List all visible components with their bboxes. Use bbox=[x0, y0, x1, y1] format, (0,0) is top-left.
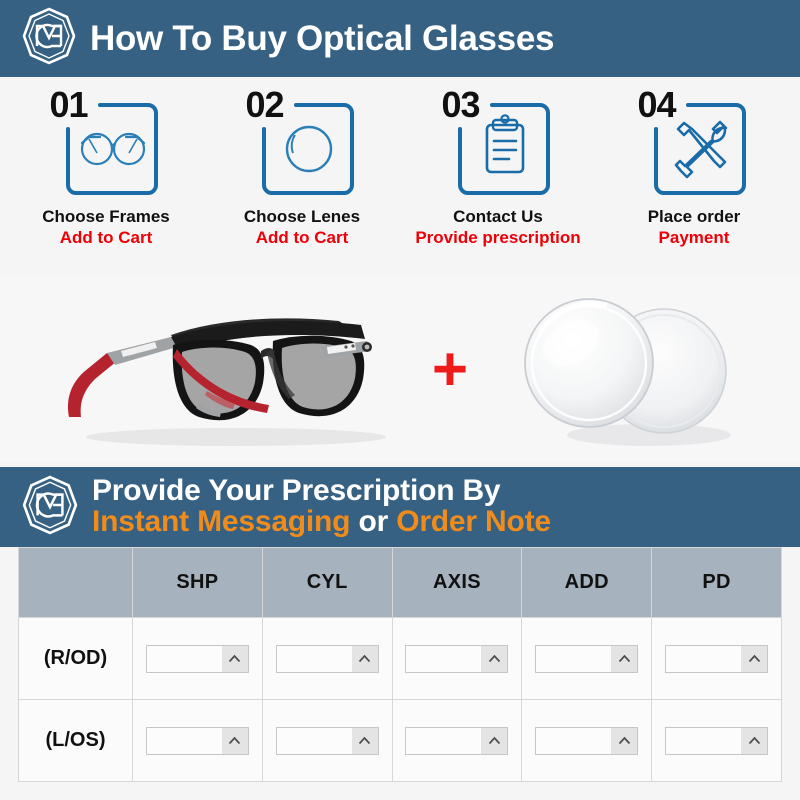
input-left-shp[interactable] bbox=[147, 728, 222, 754]
eyeglasses-photo bbox=[21, 285, 421, 455]
chevron-up-icon[interactable] bbox=[352, 728, 378, 754]
prescription-table: SHP CYL AXIS ADD PD (R/OD) bbox=[18, 547, 782, 782]
input-left-add[interactable] bbox=[536, 728, 611, 754]
prescription-table-wrap: SHP CYL AXIS ADD PD (R/OD) bbox=[0, 547, 800, 782]
cell-right-axis bbox=[392, 618, 522, 700]
table-corner-cell bbox=[19, 548, 133, 618]
cell-right-pd bbox=[652, 618, 782, 700]
step-item-02: 02 Choose Lenes Add to Cart bbox=[204, 87, 400, 277]
input-right-cyl[interactable] bbox=[277, 646, 352, 672]
table-header-row: SHP CYL AXIS ADD PD bbox=[19, 548, 782, 618]
step-caption-03: Contact Us Provide prescription bbox=[415, 207, 580, 248]
column-header-shp: SHP bbox=[133, 548, 263, 618]
chevron-up-icon[interactable] bbox=[611, 646, 637, 672]
input-right-shp[interactable] bbox=[147, 646, 222, 672]
table-row: (R/OD) bbox=[19, 618, 782, 700]
chevron-up-icon[interactable] bbox=[222, 728, 248, 754]
prescription-banner: Provide Your Prescription By Instant Mes… bbox=[0, 467, 800, 547]
step-action: Provide prescription bbox=[415, 228, 580, 249]
prescription-line-1: Provide Your Prescription By bbox=[92, 476, 551, 507]
input-right-add[interactable] bbox=[536, 646, 611, 672]
step-item-01: 01 Choose Frames Add to Cart bbox=[8, 87, 204, 277]
column-header-pd: PD bbox=[652, 548, 782, 618]
input-left-cyl[interactable] bbox=[277, 728, 352, 754]
chevron-up-icon[interactable] bbox=[481, 728, 507, 754]
step-box-04: 04 bbox=[632, 87, 757, 199]
spinner-left-axis[interactable] bbox=[405, 727, 508, 755]
step-caption-01: Choose Frames Add to Cart bbox=[42, 207, 170, 248]
step-action: Payment bbox=[648, 228, 741, 249]
step-box-03: 03 bbox=[436, 87, 561, 199]
spinner-right-cyl[interactable] bbox=[276, 645, 379, 673]
spinner-left-add[interactable] bbox=[535, 727, 638, 755]
spinner-right-shp[interactable] bbox=[146, 645, 249, 673]
me-octagon-logo-icon bbox=[22, 7, 76, 70]
spinner-left-pd[interactable] bbox=[665, 727, 768, 755]
column-header-axis: AXIS bbox=[392, 548, 522, 618]
spinner-right-pd[interactable] bbox=[665, 645, 768, 673]
input-right-pd[interactable] bbox=[666, 646, 741, 672]
chevron-up-icon[interactable] bbox=[222, 646, 248, 672]
instant-messaging-label: Instant Messaging bbox=[92, 505, 350, 538]
cell-left-add bbox=[522, 700, 652, 782]
chevron-up-icon[interactable] bbox=[352, 646, 378, 672]
cell-right-cyl bbox=[262, 618, 392, 700]
or-conjunction: or bbox=[350, 505, 396, 538]
table-row: (L/OS) bbox=[19, 700, 782, 782]
chevron-up-icon[interactable] bbox=[741, 646, 767, 672]
step-caption-02: Choose Lenes Add to Cart bbox=[244, 207, 360, 248]
spinner-right-add[interactable] bbox=[535, 645, 638, 673]
chevron-up-icon[interactable] bbox=[741, 728, 767, 754]
cell-left-shp bbox=[133, 700, 263, 782]
chevron-up-icon[interactable] bbox=[481, 646, 507, 672]
step-caption-04: Place order Payment bbox=[648, 207, 741, 248]
cell-left-pd bbox=[652, 700, 782, 782]
spinner-right-axis[interactable] bbox=[405, 645, 508, 673]
product-showcase: + bbox=[0, 277, 800, 462]
column-header-add: ADD bbox=[522, 548, 652, 618]
lens-pair-photo bbox=[479, 285, 779, 455]
step-number: 04 bbox=[636, 87, 678, 123]
step-title: Choose Frames bbox=[42, 207, 170, 228]
me-octagon-logo-icon bbox=[22, 475, 78, 540]
step-number: 03 bbox=[440, 87, 482, 123]
row-label-right-eye: (R/OD) bbox=[19, 618, 133, 700]
step-box-02: 02 bbox=[240, 87, 365, 199]
step-item-04: 04 Place order Payment bbox=[596, 87, 792, 277]
header-banner: How To Buy Optical Glasses bbox=[0, 0, 800, 77]
input-right-axis[interactable] bbox=[406, 646, 481, 672]
spinner-left-cyl[interactable] bbox=[276, 727, 379, 755]
step-item-03: 03 Contact Us Provide prescription bbox=[400, 87, 596, 277]
prescription-line-2: Instant Messaging or Order Note bbox=[92, 507, 551, 538]
step-title: Choose Lenes bbox=[244, 207, 360, 228]
page-title: How To Buy Optical Glasses bbox=[90, 21, 554, 56]
input-left-pd[interactable] bbox=[666, 728, 741, 754]
chevron-up-icon[interactable] bbox=[611, 728, 637, 754]
step-action: Add to Cart bbox=[42, 228, 170, 249]
row-label-left-eye: (L/OS) bbox=[19, 700, 133, 782]
order-note-label: Order Note bbox=[396, 505, 551, 538]
spinner-left-shp[interactable] bbox=[146, 727, 249, 755]
cell-right-add bbox=[522, 618, 652, 700]
step-number: 02 bbox=[244, 87, 286, 123]
steps-row: 01 Choose Frames Add to Cart 02 bbox=[0, 77, 800, 277]
step-box-01: 01 bbox=[44, 87, 169, 199]
cell-right-shp bbox=[133, 618, 263, 700]
prescription-banner-text: Provide Your Prescription By Instant Mes… bbox=[92, 476, 551, 537]
input-left-axis[interactable] bbox=[406, 728, 481, 754]
column-header-cyl: CYL bbox=[262, 548, 392, 618]
plus-symbol: + bbox=[421, 348, 479, 391]
step-number: 01 bbox=[48, 87, 90, 123]
step-action: Add to Cart bbox=[244, 228, 360, 249]
cell-left-cyl bbox=[262, 700, 392, 782]
step-title: Place order bbox=[648, 207, 741, 228]
cell-left-axis bbox=[392, 700, 522, 782]
step-title: Contact Us bbox=[415, 207, 580, 228]
